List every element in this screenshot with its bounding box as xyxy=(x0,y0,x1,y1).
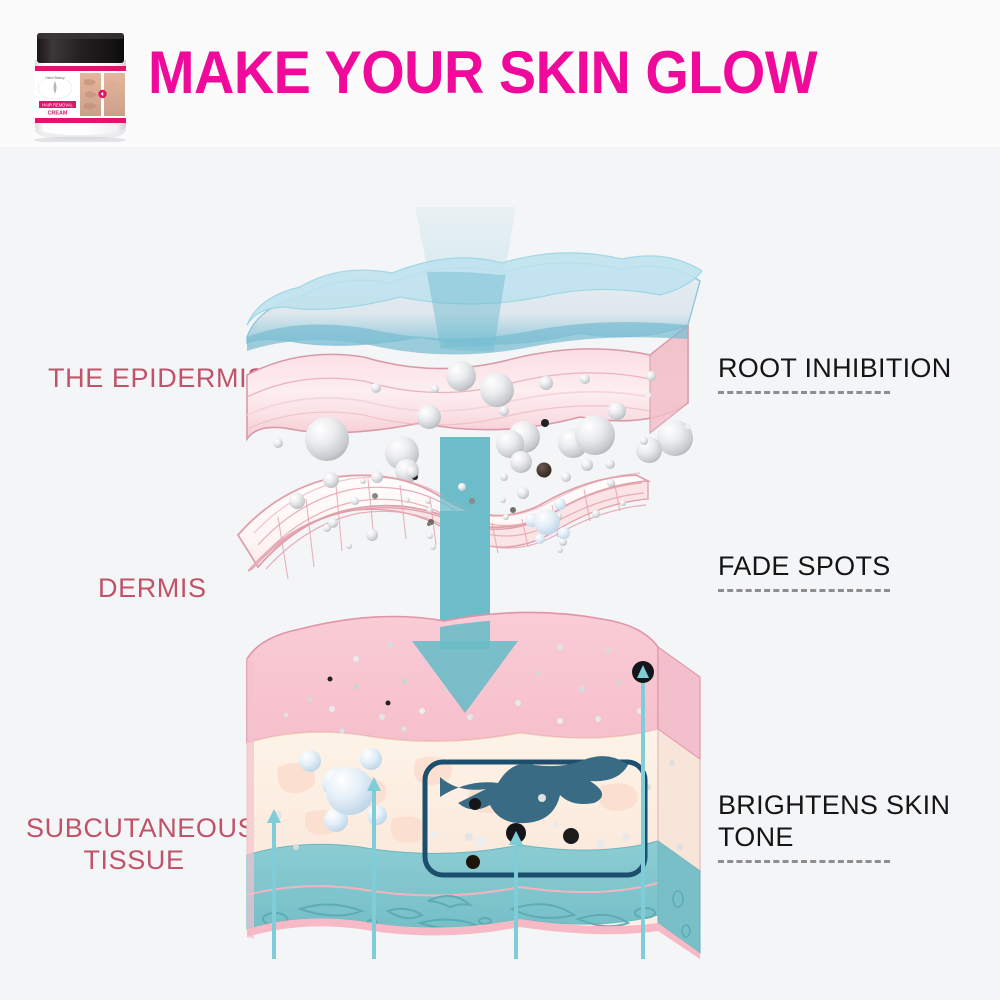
page-title: MAKE YOUR SKIN GLOW xyxy=(148,40,920,106)
svg-text:Helen Beauty: Helen Beauty xyxy=(45,76,65,80)
product-jar: Helen Beauty HAIR REMOVAL CREAM xyxy=(28,30,133,142)
skin-cross-section-diagram xyxy=(0,147,1000,1000)
arrow-shaft-seg xyxy=(440,511,490,537)
svg-text:CREAM: CREAM xyxy=(48,111,68,117)
svg-text:HAIR REMOVAL: HAIR REMOVAL xyxy=(42,102,73,107)
